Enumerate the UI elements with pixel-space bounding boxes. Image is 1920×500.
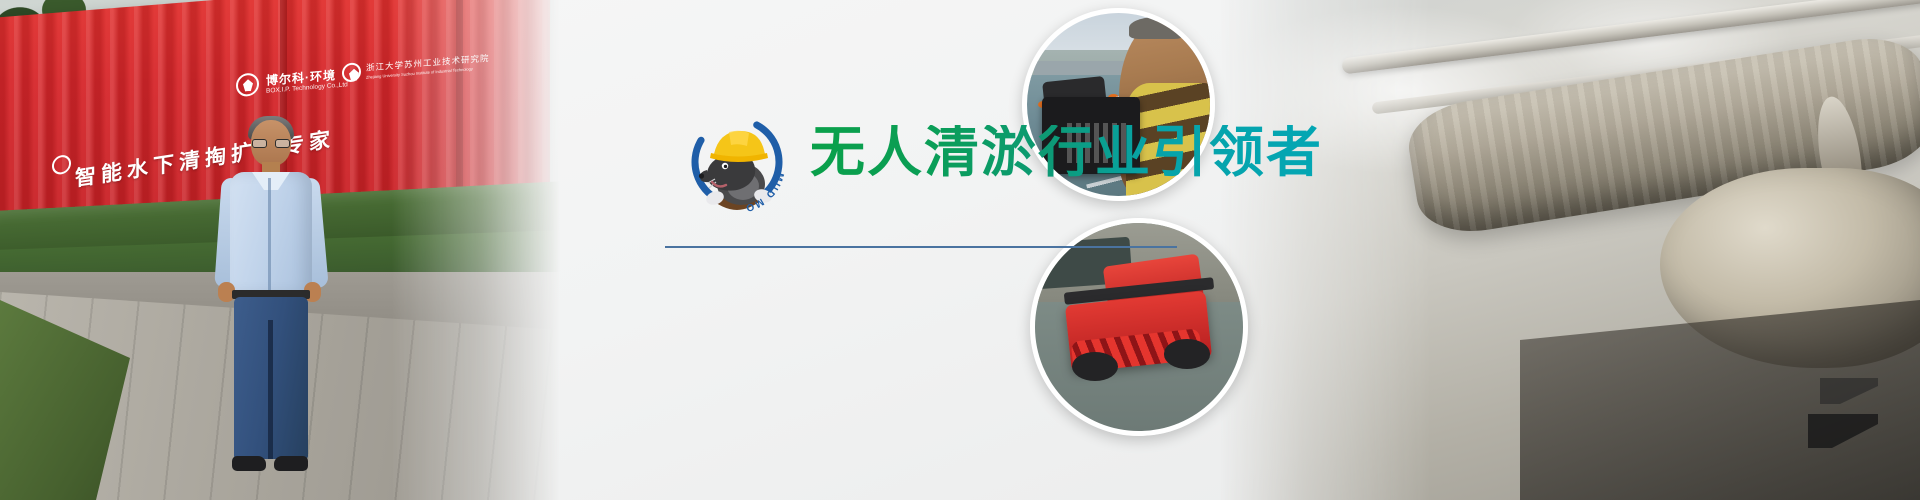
person-leg-split — [268, 320, 273, 459]
center-content: MUD MOLE MUD MOLE 无人清淤行业引领者 — [660, 0, 1280, 500]
page-headline: 无人清淤行业引领者 — [810, 125, 1323, 180]
headline-divider — [665, 246, 1177, 248]
container-seam — [456, 0, 463, 216]
person-shirt — [230, 172, 312, 294]
person-shirt-placket — [268, 178, 271, 290]
person-glasses-icon — [252, 139, 290, 148]
engineer-with-red-container-photo: 博尔科·环境 BOX.I.P. Technology Co.,Ltd 浙江大学苏… — [0, 0, 560, 500]
hero-banner: 博尔科·环境 BOX.I.P. Technology Co.,Ltd 浙江大学苏… — [0, 0, 1920, 500]
person-shoe-left — [232, 456, 266, 471]
mud-mole-logo: MUD MOLE MUD MOLE — [685, 110, 789, 214]
sludge-discharge-pipe-photo — [1220, 0, 1920, 500]
engineer-person — [216, 120, 326, 470]
person-shoe-right — [274, 456, 308, 471]
